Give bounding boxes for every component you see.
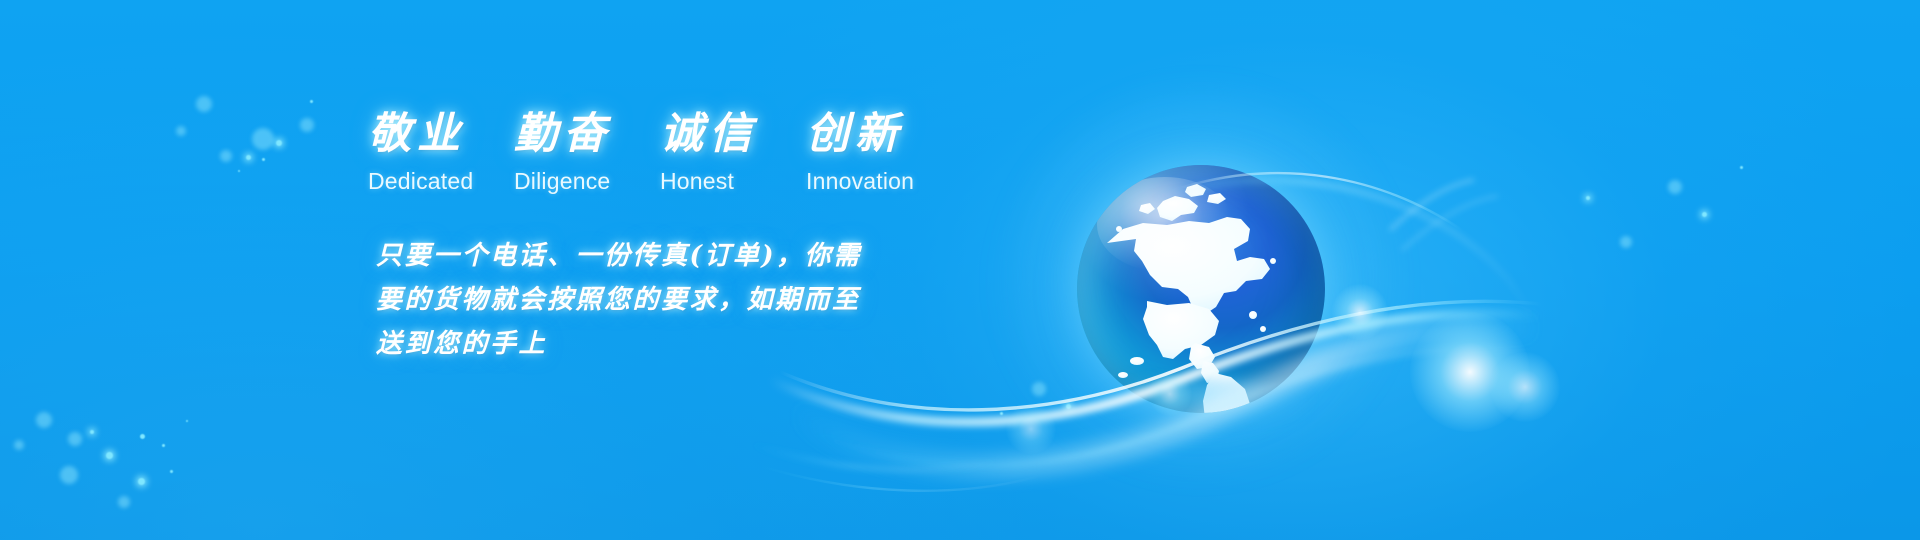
slogan-en-diligence: Diligence — [514, 170, 660, 198]
banner-copy: 敬业 勤奋 诚信 创新 Dedicated Diligence Honest I… — [368, 92, 1008, 366]
promotional-banner: 敬业 勤奋 诚信 创新 Dedicated Diligence Honest I… — [0, 0, 1920, 540]
promo-paragraph-line-2: 要的货物就会按照您的要求，如期而至 — [376, 278, 1008, 322]
slogan-row-english: Dedicated Diligence Honest Innovation — [368, 170, 1008, 198]
slogan-cn-diligence: 勤奋 — [514, 113, 660, 156]
slogan-en-honest: Honest — [660, 170, 806, 198]
slogan-row-chinese: 敬业 勤奋 诚信 创新 — [368, 92, 1008, 156]
slogan-cn-honest: 诚信 — [660, 113, 806, 156]
slogan-cn-innovation: 创新 — [806, 113, 952, 156]
slogan-cn-dedicated: 敬业 — [368, 113, 514, 156]
promo-paragraph: 只要一个电话、一份传真(订单)，你需 要的货物就会按照您的要求，如期而至 送到您… — [376, 234, 1008, 366]
promo-paragraph-line-1: 只要一个电话、一份传真(订单)，你需 — [376, 234, 1008, 278]
promo-paragraph-line-3: 送到您的手上 — [376, 322, 1008, 366]
globe-illustration — [980, 120, 1540, 450]
slogan-en-innovation: Innovation — [806, 170, 952, 198]
slogan-en-dedicated: Dedicated — [368, 170, 514, 198]
